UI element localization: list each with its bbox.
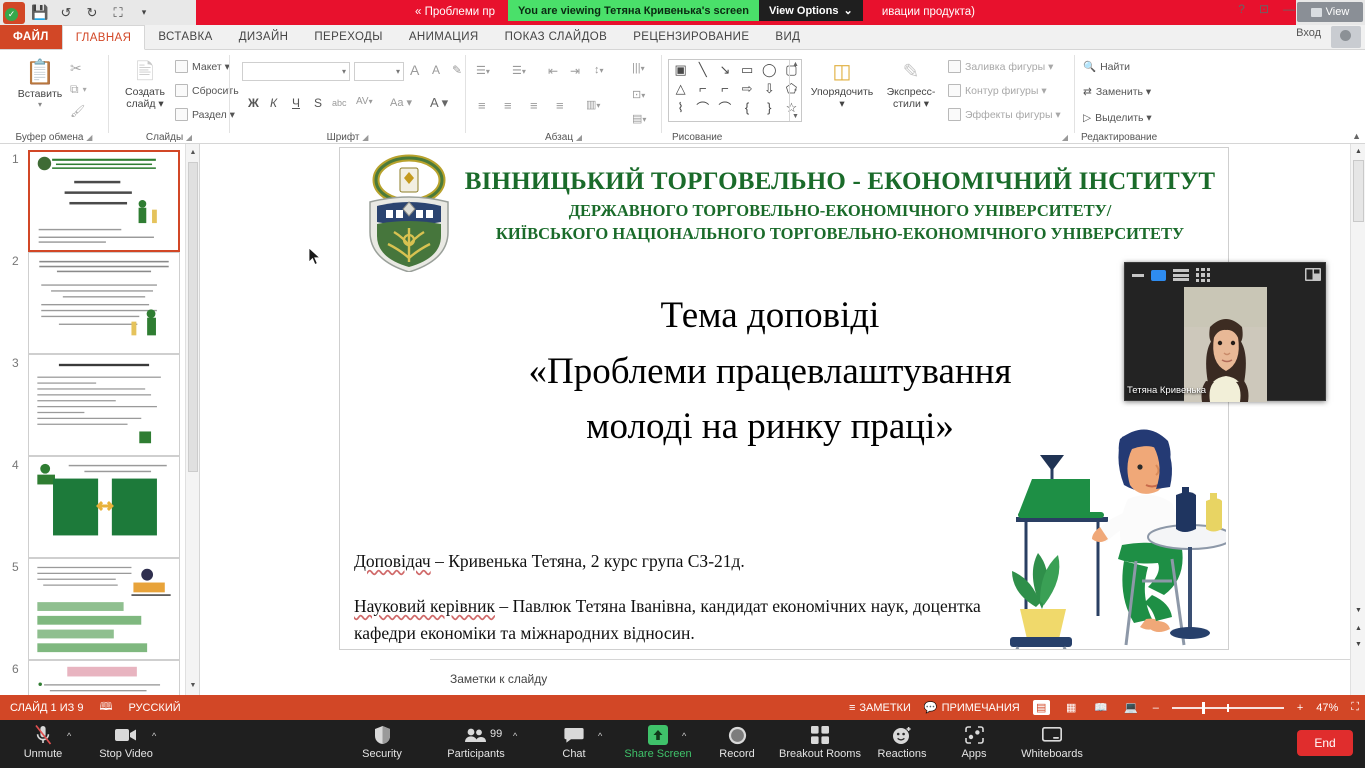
customize-qat-icon[interactable]: ▾ xyxy=(132,2,156,24)
comment-bubble-icon: 💬 xyxy=(924,701,938,714)
undo-icon[interactable]: ↺ xyxy=(54,2,78,24)
ribbon-display-options-icon[interactable]: ⊡ xyxy=(1259,2,1269,16)
record-circle-icon xyxy=(694,724,780,746)
zoom-toolbar-label: Whiteboards xyxy=(1009,748,1095,760)
shapes-gallery[interactable]: ▣ ╲ ↘ ▭ ◯ ▢ △ ⌐ ⌐ ⇨ ⇩ ⬠ ⌇ ⌒ xyxy=(668,59,802,122)
sign-in-link[interactable]: Вход xyxy=(1296,27,1321,39)
justify-button[interactable]: ≡ xyxy=(556,98,564,113)
shapes-row[interactable]: ⌇ ⌒ ⌒ { } ☆ xyxy=(669,98,801,117)
text-shadow-button[interactable]: S xyxy=(314,96,322,110)
change-case-button[interactable]: Aa ▾ xyxy=(390,96,412,109)
woman-working-illustration xyxy=(996,409,1226,649)
supervisor-value-2: кафедри економіки та міжнародних відноси… xyxy=(354,620,1074,647)
title-bar: 💾 ↺ ↻ ⛶ ▾ « Проблеми пр ивации продукта)… xyxy=(0,0,1365,25)
quick-styles-button[interactable]: ✎ Экспресс- стили ▾ xyxy=(878,58,944,110)
zoom-breakout-rooms-button[interactable]: Breakout Rooms xyxy=(777,724,863,760)
shape-effects-button[interactable]: Эффекты фигуры ▾ xyxy=(948,108,1061,121)
reading-view-icon[interactable]: 📖 xyxy=(1093,700,1110,715)
font-name-input[interactable]: ▾ xyxy=(242,62,350,81)
shape-arc-icon[interactable]: ⌒ xyxy=(693,98,712,117)
video-options-chevron-icon[interactable]: ^ xyxy=(152,731,156,741)
increase-font-size-button[interactable]: A xyxy=(410,62,419,78)
shapes-row[interactable]: △ ⌐ ⌐ ⇨ ⇩ ⬠ xyxy=(669,79,801,98)
thumbnail-number: 6 xyxy=(12,662,19,676)
ribbon-group-drawing: ▣ ╲ ↘ ▭ ◯ ▢ △ ⌐ ⌐ ⇨ ⇩ ⬠ ⌇ ⌒ xyxy=(662,50,1074,144)
group-label-drawing: Рисование xyxy=(662,132,1074,143)
effects-icon xyxy=(948,108,961,121)
columns-button[interactable]: ▥▾ xyxy=(586,98,600,111)
select-button[interactable]: ▷Выделить ▾ xyxy=(1083,112,1152,124)
group-label-font: Шрифт ◢ xyxy=(230,132,465,143)
shape-curve-icon[interactable]: ⌒ xyxy=(715,98,734,117)
zoom-toolbar-label: Share Screen xyxy=(615,748,701,760)
language-indicator[interactable]: РУССКИЙ xyxy=(128,702,180,714)
start-presentation-icon[interactable]: ⛶ xyxy=(106,2,130,24)
microphone-muted-icon xyxy=(0,724,86,746)
zoom-toolbar-label: Breakout Rooms xyxy=(777,748,863,760)
zoom-toolbar-label: Chat xyxy=(531,748,617,760)
zoom-in-button[interactable]: + xyxy=(1297,702,1303,714)
shape-left-brace-icon[interactable]: { xyxy=(738,100,757,115)
whiteboard-icon xyxy=(1009,724,1095,746)
tab-animations[interactable]: АНИМАЦИЯ xyxy=(396,25,492,49)
gallery-view-icon[interactable] xyxy=(1196,268,1210,282)
thumbnail-pane-scrollbar[interactable]: ▲ ▼ xyxy=(185,144,199,695)
chevron-down-icon: ⌄ xyxy=(843,4,852,17)
share-chevron-icon[interactable]: ^ xyxy=(682,731,686,741)
paste-button[interactable]: 📋 Вставить ▾ xyxy=(10,58,70,109)
clear-formatting-icon[interactable]: ✎ xyxy=(452,63,462,77)
zoom-view-badge[interactable]: View xyxy=(1297,2,1363,22)
slide-scrollbar[interactable]: ▲ ▼ ▲ ▼ xyxy=(1350,144,1365,695)
tab-file[interactable]: ФАЙЛ xyxy=(0,25,62,49)
shape-arrow-icon[interactable]: ↘ xyxy=(715,62,734,78)
thumbnail-preview xyxy=(30,152,178,250)
powerpoint-window: 💾 ↺ ↻ ⛶ ▾ « Проблеми пр ивации продукта)… xyxy=(0,0,1365,768)
shape-freeform-icon[interactable]: ⌇ xyxy=(671,100,690,116)
scroll-down-icon[interactable]: ▼ xyxy=(188,679,198,693)
participants-count-badge: 99 xyxy=(490,728,502,740)
zoom-whiteboards-button[interactable]: Whiteboards xyxy=(1009,724,1095,760)
copy-icon[interactable]: ⧉▾ xyxy=(70,82,87,97)
powerpoint-logo-icon xyxy=(2,2,26,24)
end-meeting-button[interactable]: End xyxy=(1297,730,1353,756)
line-spacing-button[interactable]: ↕▾ xyxy=(594,64,604,76)
ribbon-group-clipboard: 📋 Вставить ▾ ✂ ⧉▾ 🖌 Буфер обмена ◢ xyxy=(0,50,108,144)
zoom-toolbar-label: Apps xyxy=(931,748,1017,760)
zoom-toolbar-label: Unmute xyxy=(0,748,86,760)
next-slide-icon[interactable]: ▼ xyxy=(1353,638,1364,652)
scroll-up-icon[interactable]: ▲ xyxy=(188,146,198,160)
proofing-icon[interactable]: 🕮 xyxy=(99,698,112,717)
university-line-2: ДЕРЖАВНОГО ТОРГОВЕЛЬНО-ЕКОНОМІЧНОГО УНІВ… xyxy=(460,201,1220,221)
scroll-up-icon[interactable]: ▲ xyxy=(1353,145,1364,159)
topic-line-2: «Проблеми працевлаштування xyxy=(370,344,1170,400)
scrollbar-thumb[interactable] xyxy=(188,162,198,472)
shape-right-brace-icon[interactable]: } xyxy=(760,100,779,115)
zoom-out-button[interactable]: – xyxy=(1153,702,1159,714)
avatar[interactable] xyxy=(1331,26,1361,48)
thumbnail-slide-1[interactable] xyxy=(28,150,180,252)
font-color-button[interactable]: A ▾ xyxy=(430,95,448,111)
ribbon-tabs[interactable]: ФАЙЛ ГЛАВНАЯ ВСТАВКА ДИЗАЙН ПЕРЕХОДЫ АНИ… xyxy=(0,25,1365,50)
current-slide[interactable]: ВІННИЦЬКИЙ ТОРГОВЕЛЬНО - ЕКОНОМІЧНИЙ ІНС… xyxy=(339,147,1229,650)
presenter-label: Доповідач xyxy=(354,551,431,571)
group-label-slides: Слайды ◢ xyxy=(109,132,229,143)
work-area: 1 2 3 xyxy=(0,144,1365,695)
shape-outline-button[interactable]: Контур фигуры ▾ xyxy=(948,84,1047,97)
status-bar: СЛАЙД 1 ИЗ 9 🕮 РУССКИЙ ≡ЗАМЕТКИ 💬ПРИМЕЧА… xyxy=(0,695,1365,720)
tab-review[interactable]: РЕЦЕНЗИРОВАНИЕ xyxy=(620,25,762,49)
character-spacing-button[interactable]: AV▾ xyxy=(356,96,373,107)
tab-view[interactable]: ВИД xyxy=(762,25,813,49)
audio-options-chevron-icon[interactable]: ^ xyxy=(67,731,71,741)
group-label-paragraph: Абзац ◢ xyxy=(466,132,661,143)
thumbnail-number: 2 xyxy=(12,254,19,268)
quick-access-toolbar[interactable]: 💾 ↺ ↻ ⛶ ▾ xyxy=(0,0,156,25)
participants-chevron-icon[interactable]: ^ xyxy=(513,731,517,741)
group-label-clipboard: Буфер обмена ◢ xyxy=(0,132,108,143)
supervisor-label: Науковий керівник xyxy=(354,596,495,616)
thumbnail-slide-6[interactable] xyxy=(28,660,180,695)
bullets-button[interactable]: ☰▾ xyxy=(476,64,490,77)
font-size-input[interactable]: ▾ xyxy=(354,62,404,81)
zoom-toolbar-label: Stop Video xyxy=(83,748,169,760)
shield-icon xyxy=(339,724,425,746)
comments-button[interactable]: 💬ПРИМЕЧАНИЯ xyxy=(924,701,1020,714)
squares-grid-icon xyxy=(777,724,863,746)
more-shapes-icon[interactable]: ▼ xyxy=(792,113,799,120)
help-icon[interactable]: ? xyxy=(1238,2,1245,16)
zoom-record-button[interactable]: Record xyxy=(694,724,780,760)
window-controls[interactable]: ? ⊡ — xyxy=(1238,2,1295,16)
shape-fill-button[interactable]: Заливка фигуры ▾ xyxy=(948,60,1053,73)
arrange-button[interactable]: ◫ Упорядочить ▾ xyxy=(806,58,878,110)
numbering-button[interactable]: ☰▾ xyxy=(512,64,526,77)
zoom-toolbar-label: Participants xyxy=(433,748,519,760)
thumbnail-preview xyxy=(29,355,179,455)
notes-icon: ≡ xyxy=(849,702,855,714)
align-text-button[interactable]: ⊡▾ xyxy=(632,88,645,101)
zoom-security-button[interactable]: Security xyxy=(339,724,425,760)
ribbon-group-paragraph: ☰▾ ☰▾ ⇤ ⇥ ↕▾ |||▾ ⊡▾ ▤▾ ≡ ≡ ≡ ≡ ▥▾ Абзац… xyxy=(466,50,661,144)
tab-transitions[interactable]: ПЕРЕХОДЫ xyxy=(301,25,395,49)
section-button[interactable]: Раздел ▾ xyxy=(175,108,235,121)
align-right-button[interactable]: ≡ xyxy=(530,98,538,113)
thumbnail-preview xyxy=(29,253,179,353)
outline-pen-icon xyxy=(948,84,961,97)
mouse-cursor xyxy=(309,248,321,266)
redo-icon[interactable]: ↻ xyxy=(80,2,104,24)
zoom-chat-button[interactable]: Chat xyxy=(531,724,617,760)
presenter-line: Доповідач – Кривенька Тетяна, 2 курс гру… xyxy=(354,548,1074,575)
people-icon xyxy=(433,724,519,746)
tab-insert[interactable]: ВСТАВКА xyxy=(145,25,225,49)
chevron-down-icon: ▾ xyxy=(342,67,346,76)
normal-view-icon[interactable]: ▤ xyxy=(1033,700,1050,715)
notes-button[interactable]: ≡ЗАМЕТКИ xyxy=(849,702,911,714)
zoom-toolbar-label: Security xyxy=(339,748,425,760)
slideshow-icon[interactable]: 💻 xyxy=(1123,700,1140,715)
previous-slide-icon[interactable]: ▲ xyxy=(1353,622,1364,636)
slide-counter[interactable]: СЛАЙД 1 ИЗ 9 xyxy=(10,702,83,714)
university-line-3: КИЇВСЬКОГО НАЦІОНАЛЬНОГО ТОРГОВЕЛЬНО-ЕКО… xyxy=(460,224,1220,244)
reset-icon xyxy=(175,84,188,97)
slide-sorter-icon[interactable]: ▦ xyxy=(1063,700,1080,715)
chat-bubble-icon xyxy=(531,724,617,746)
shape-oval-icon[interactable]: ◯ xyxy=(760,62,779,78)
increase-indent-button[interactable]: ⇥ xyxy=(570,64,580,78)
tab-home[interactable]: ГЛАВНАЯ xyxy=(62,25,146,50)
zoom-screen-share-banner: You are viewing Тетяна Кривенька's scree… xyxy=(508,0,863,21)
zoom-video-panel-controls[interactable] xyxy=(1125,263,1327,287)
zoom-unmute-button[interactable]: Unmute xyxy=(0,724,86,760)
find-button[interactable]: 🔍Найти xyxy=(1083,60,1130,73)
popout-icon[interactable] xyxy=(1305,268,1321,281)
minimize-icon[interactable]: — xyxy=(1283,2,1295,16)
slide-thumbnail-pane[interactable]: 1 2 3 xyxy=(0,144,200,695)
ribbon-group-font: ▾ ▾ A A ✎ Ж К Ч S abc AV▾ Aa ▾ A ▾ Шрифт… xyxy=(230,50,465,144)
replace-button[interactable]: ⇄Заменить ▾ xyxy=(1083,86,1151,98)
group-label-editing: Редактирование xyxy=(1075,132,1205,143)
convert-to-smartart-button[interactable]: ▤▾ xyxy=(632,112,646,125)
ribbon-group-slides: 🖹 Создать слайд ▾ Макет ▾ Сбросить Разде… xyxy=(109,50,229,144)
active-speaker-view-icon[interactable] xyxy=(1151,270,1166,281)
section-icon xyxy=(175,108,188,121)
apps-bracket-icon xyxy=(931,724,1017,746)
thumbnail-slide-3[interactable] xyxy=(28,354,180,456)
scrollbar-thumb[interactable] xyxy=(1353,160,1364,222)
fill-bucket-icon xyxy=(948,60,961,73)
replace-icon: ⇄ xyxy=(1083,86,1092,98)
shape-right-arrow-icon[interactable]: ⇨ xyxy=(738,81,757,97)
strikethrough-button[interactable]: abc xyxy=(332,98,347,108)
cut-icon[interactable]: ✂ xyxy=(70,60,82,77)
topic-line-1: Тема доповіді xyxy=(370,288,1170,344)
format-painter-icon[interactable]: 🖌 xyxy=(70,104,85,118)
decrease-indent-button[interactable]: ⇤ xyxy=(548,64,558,78)
thumbnail-preview xyxy=(29,559,179,659)
align-center-button[interactable]: ≡ xyxy=(504,98,512,113)
scroll-up-icon[interactable]: ▲ xyxy=(792,61,799,68)
collapse-ribbon-icon[interactable]: ▲ xyxy=(1352,131,1361,141)
view-options-button[interactable]: View Options ⌄ xyxy=(759,0,863,21)
participant-name-label: Тетяна Кривенька xyxy=(1127,385,1206,396)
thumbnail-slide-4[interactable] xyxy=(28,456,180,558)
notes-placeholder: Заметки к слайду xyxy=(450,672,547,686)
shape-elbow-arrow-icon[interactable]: ⌐ xyxy=(715,81,734,96)
cursor-select-icon: ▷ xyxy=(1083,112,1091,124)
zoom-participants-button[interactable]: Participants xyxy=(433,724,519,760)
zoom-toolbar-label: Record xyxy=(694,748,780,760)
ribbon-group-editing: 🔍Найти ⇄Заменить ▾ ▷Выделить ▾ Редактиро… xyxy=(1075,50,1205,144)
filmstrip-view-icon[interactable] xyxy=(1173,269,1189,281)
tab-slideshow[interactable]: ПОКАЗ СЛАЙДОВ xyxy=(492,25,621,49)
university-line-1: ВІННИЦЬКИЙ ТОРГОВЕЛЬНО - ЕКОНОМІЧНИЙ ІНС… xyxy=(460,168,1220,196)
thumbnail-number: 4 xyxy=(12,458,19,472)
thumbnail-number: 5 xyxy=(12,560,19,574)
zoom-meeting-toolbar: Unmute ^ Stop Video ^ Security Participa… xyxy=(0,720,1365,768)
zoom-video-panel[interactable]: Тетяна Кривенька xyxy=(1124,262,1326,401)
supervisor-value: – Павлюк Тетяна Іванівна, кандидат еконо… xyxy=(495,596,981,616)
shape-textbox-icon[interactable]: ▣ xyxy=(671,62,690,78)
university-name: ВІННИЦЬКИЙ ТОРГОВЕЛЬНО - ЕКОНОМІЧНИЙ ІНС… xyxy=(460,168,1220,244)
save-icon[interactable]: 💾 xyxy=(28,2,52,24)
notes-pane[interactable]: Заметки к слайду xyxy=(430,659,1365,695)
zoom-level[interactable]: 47% xyxy=(1316,702,1338,714)
text-direction-button[interactable]: |||▾ xyxy=(632,62,645,74)
binoculars-icon: 🔍 xyxy=(1083,60,1096,73)
layout-button[interactable]: Макет ▾ xyxy=(175,60,230,73)
thumbnail-slide-2[interactable] xyxy=(28,252,180,354)
underline-button[interactable]: Ч xyxy=(292,96,300,110)
bold-button[interactable]: Ж xyxy=(248,96,259,110)
viewing-screen-message: You are viewing Тетяна Кривенька's scree… xyxy=(508,0,759,21)
scroll-dot-icon[interactable]: ▪ xyxy=(794,87,796,94)
university-emblem-icon xyxy=(360,154,458,272)
shape-elbow-connector-icon[interactable]: ⌐ xyxy=(693,81,712,96)
scroll-down-icon[interactable]: ▼ xyxy=(1353,604,1364,618)
zoom-stop-video-button[interactable]: Stop Video xyxy=(83,724,169,760)
align-left-button[interactable]: ≡ xyxy=(478,98,486,113)
zoom-slider[interactable] xyxy=(1172,702,1284,714)
shape-line-icon[interactable]: ╲ xyxy=(693,62,712,78)
shape-down-arrow-icon[interactable]: ⇩ xyxy=(760,81,779,97)
zoom-slider-knob[interactable] xyxy=(1202,702,1205,714)
decrease-font-size-button[interactable]: A xyxy=(432,63,440,77)
share-up-arrow-icon xyxy=(615,724,701,746)
thumbnail-slide-5[interactable] xyxy=(28,558,180,660)
slide-canvas-area: ВІННИЦЬКИЙ ТОРГОВЕЛЬНО - ЕКОНОМІЧНИЙ ІНС… xyxy=(215,144,1350,659)
layout-icon xyxy=(175,60,188,73)
thumbnail-number: 1 xyxy=(12,152,19,166)
ribbon: 📋 Вставить ▾ ✂ ⧉▾ 🖌 Буфер обмена ◢ 🖹 Соз… xyxy=(0,50,1365,144)
chat-chevron-icon[interactable]: ^ xyxy=(598,731,602,741)
shape-triangle-icon[interactable]: △ xyxy=(671,81,690,97)
zoom-apps-button[interactable]: Apps xyxy=(931,724,1017,760)
thumbnail-preview xyxy=(29,457,179,557)
shapes-row[interactable]: ▣ ╲ ↘ ▭ ◯ ▢ xyxy=(669,60,801,79)
fit-slide-to-window-icon[interactable]: ⛶ xyxy=(1351,701,1359,714)
presenter-value: – Кривенька Тетяна, 2 курс група СЗ-21д. xyxy=(431,551,745,571)
minimize-icon[interactable] xyxy=(1132,274,1144,277)
thumbnail-number: 3 xyxy=(12,356,19,370)
drag-handle-icon xyxy=(1311,8,1322,17)
shape-rectangle-icon[interactable]: ▭ xyxy=(738,62,757,78)
new-slide-button[interactable]: 🖹 Создать слайд ▾ xyxy=(115,58,175,110)
italic-button[interactable]: К xyxy=(270,96,277,110)
zoom-share-screen-button[interactable]: Share Screen xyxy=(615,724,701,760)
tab-design[interactable]: ДИЗАЙН xyxy=(226,25,302,49)
thumbnail-preview xyxy=(29,661,179,695)
slide-authors-text[interactable]: Доповідач – Кривенька Тетяна, 2 курс гру… xyxy=(354,548,1074,647)
supervisor-line: Науковий керівник – Павлюк Тетяна Іванів… xyxy=(354,593,1074,647)
chevron-down-icon: ▾ xyxy=(396,67,400,76)
shapes-gallery-scrollbar[interactable]: ▲ ▪ ▼ xyxy=(789,60,801,121)
